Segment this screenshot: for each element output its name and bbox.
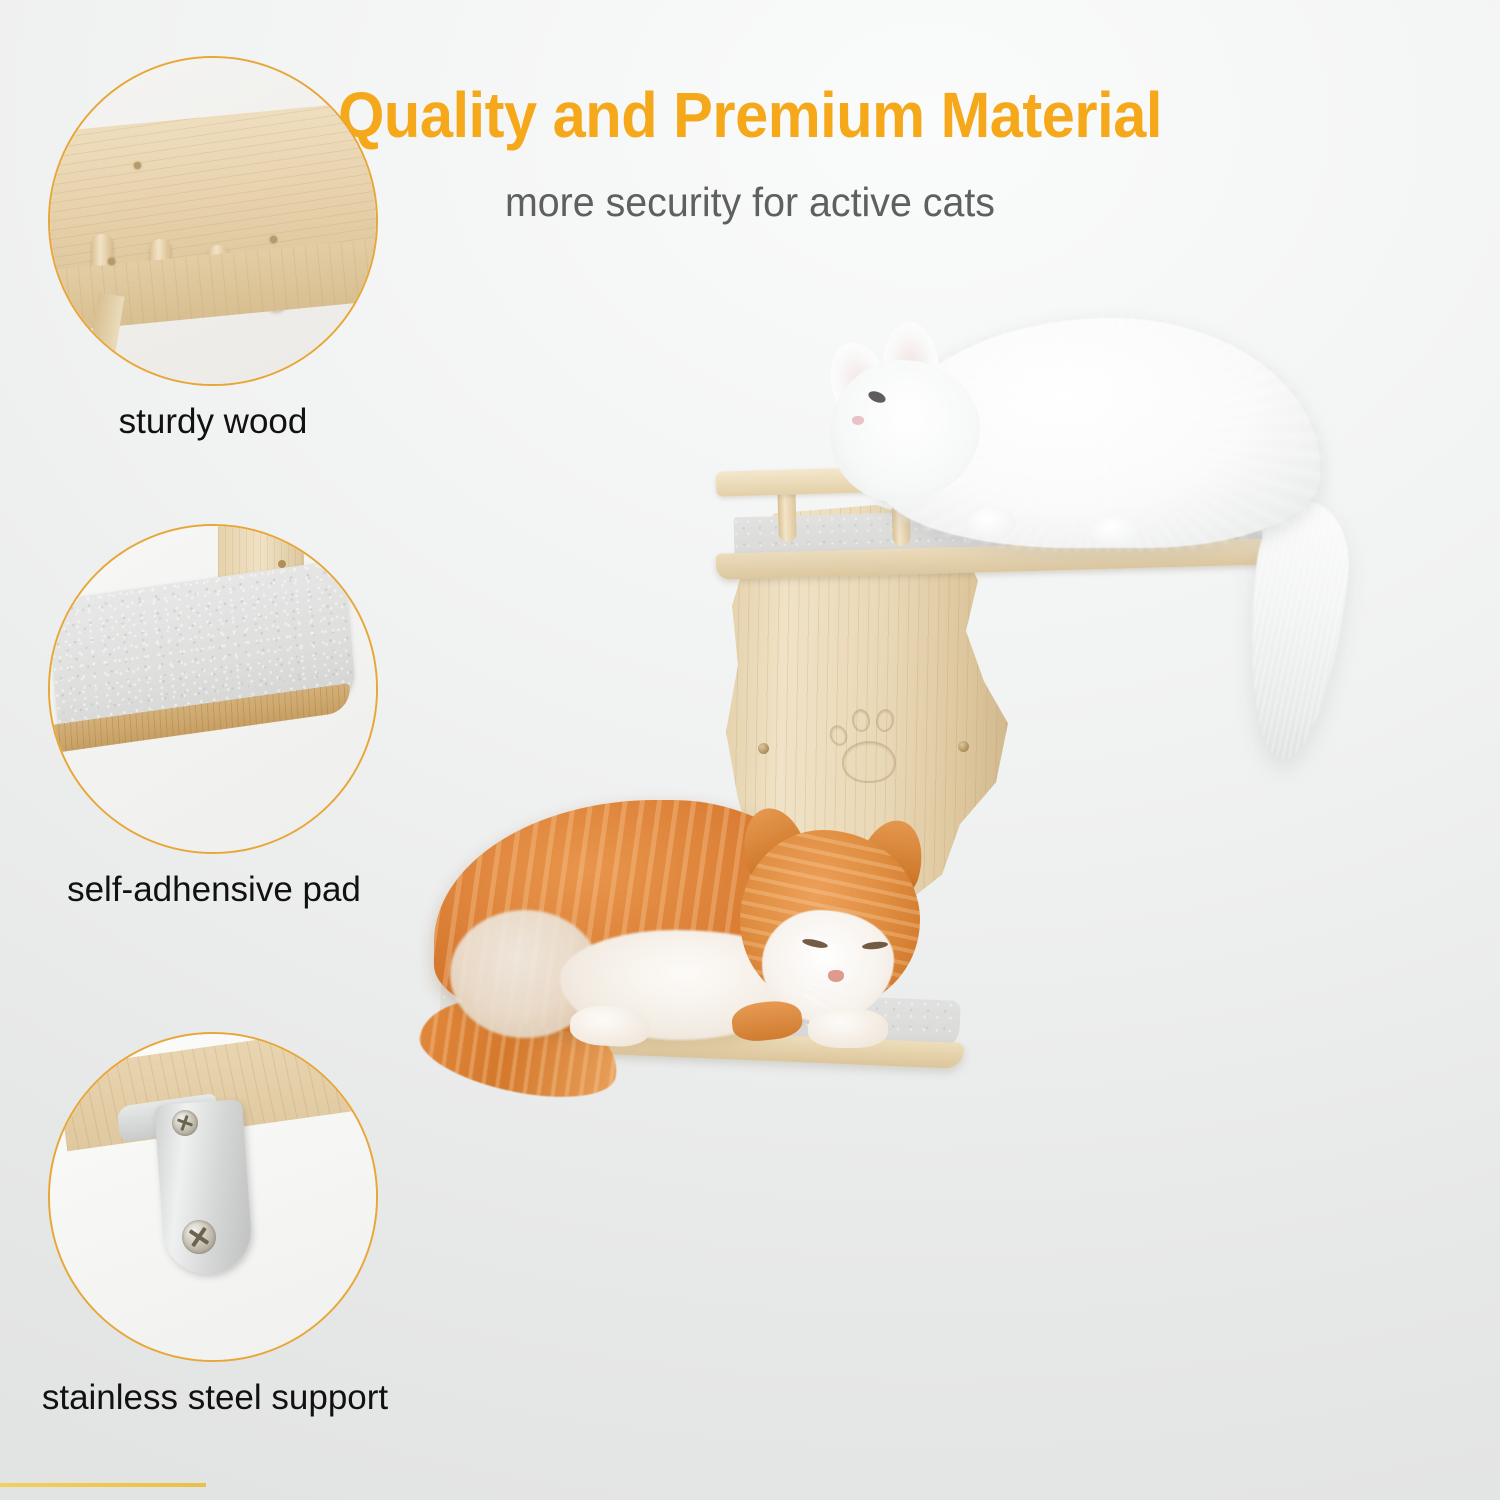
self-adhensive-pad-icon: [48, 524, 378, 854]
feature-label-self-adhensive-pad: self-adhensive pad: [34, 870, 394, 910]
feature-label-sturdy-wood: sturdy wood: [48, 402, 378, 442]
bottom-accent-bar: [0, 1483, 206, 1487]
paw-print-icon: [826, 701, 916, 791]
orange-tabby-cat: [410, 790, 990, 1120]
feature-callout-sturdy-wood: sturdy wood: [48, 56, 378, 442]
feature-callout-stainless-steel-support: stainless steel support: [48, 1032, 410, 1418]
sturdy-wood-icon: [48, 56, 378, 386]
poster-canvas: Quality and Premium Material more securi…: [0, 0, 1500, 1500]
product-photo: [400, 290, 1500, 1190]
feature-label-stainless-steel-support: stainless steel support: [20, 1378, 410, 1418]
white-cat: [820, 300, 1380, 630]
feature-callout-self-adhensive-pad: self-adhensive pad: [48, 524, 394, 910]
stainless-steel-support-icon: [48, 1032, 378, 1362]
